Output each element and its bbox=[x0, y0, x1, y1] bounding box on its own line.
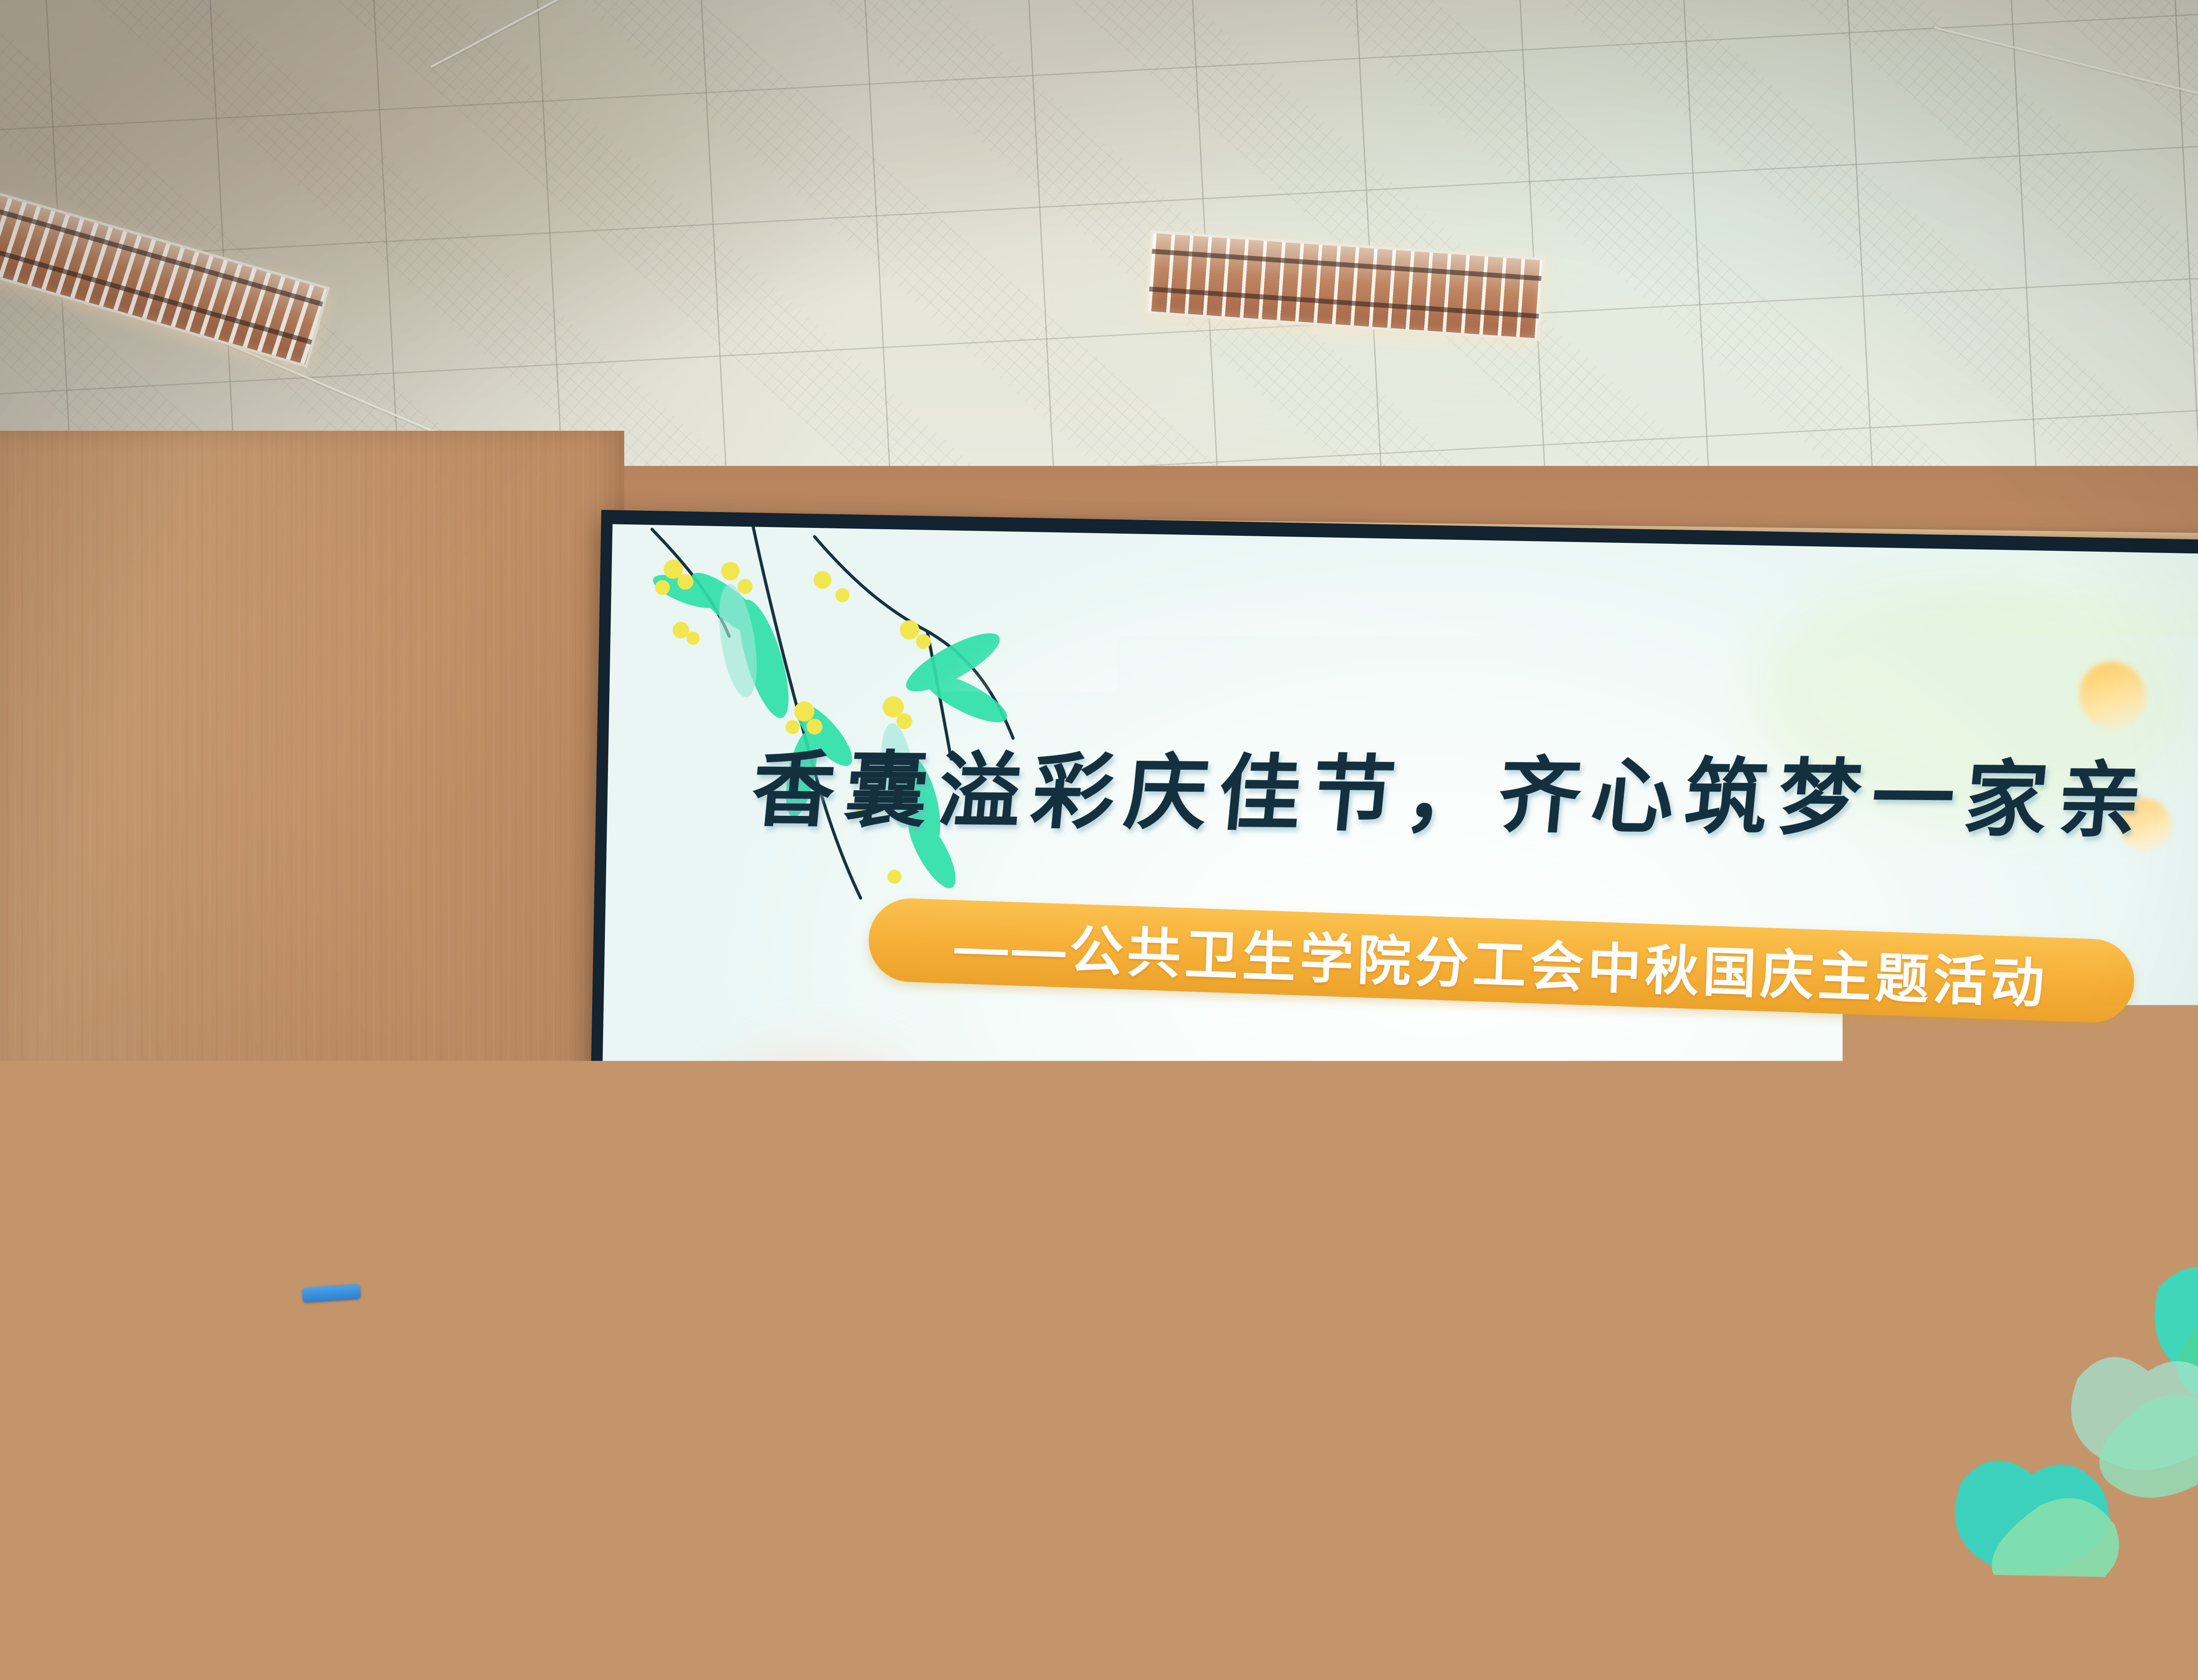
mouth bbox=[506, 884, 579, 912]
microphone-grille bbox=[512, 1190, 561, 1250]
watercolor-wash bbox=[1890, 1207, 2198, 1566]
photo-scene: 香囊溢彩庆佳节，齐心筑梦一家亲 ——公共卫生学院分工会中秋国庆主题活动 bbox=[0, 0, 2198, 1680]
slide-title: 香囊溢彩庆佳节，齐心筑梦一家亲 bbox=[748, 749, 2198, 844]
glasses-lens-left bbox=[451, 816, 525, 849]
finger bbox=[558, 1365, 639, 1391]
finger bbox=[566, 1316, 646, 1342]
pen-in-pocket-icon bbox=[633, 1180, 659, 1185]
presenter bbox=[308, 695, 879, 1680]
finger bbox=[560, 1341, 644, 1367]
trousers bbox=[396, 1380, 703, 1680]
hand-right bbox=[538, 1294, 662, 1418]
shirt-button bbox=[542, 1059, 551, 1068]
mooncake-illustration-icon bbox=[1679, 1349, 1912, 1560]
shirt-button bbox=[542, 1147, 551, 1156]
glasses-bridge bbox=[525, 825, 565, 828]
microphone-band bbox=[302, 1284, 361, 1302]
leaf-cluster-icon bbox=[1907, 1230, 2198, 1581]
teal-object bbox=[0, 1207, 14, 1264]
slide-subtitle-text: ——公共卫生学院分工会中秋国庆主题活动 bbox=[953, 903, 2050, 1018]
pastel-shard bbox=[1736, 1363, 1916, 1577]
lectern-front-panel bbox=[66, 1201, 106, 1555]
slide-date: 2025年9月29日 bbox=[1255, 1396, 1573, 1470]
finger bbox=[475, 1323, 555, 1349]
lantern-blob-icon bbox=[2079, 661, 2146, 731]
slide-subtitle-banner: ——公共卫生学院分工会中秋国庆主题活动 bbox=[867, 897, 2136, 1024]
lectern-knob bbox=[67, 1358, 77, 1370]
glasses-lens-right bbox=[565, 816, 639, 849]
nose bbox=[520, 844, 562, 879]
watercolor-wash bbox=[1582, 1325, 1983, 1581]
